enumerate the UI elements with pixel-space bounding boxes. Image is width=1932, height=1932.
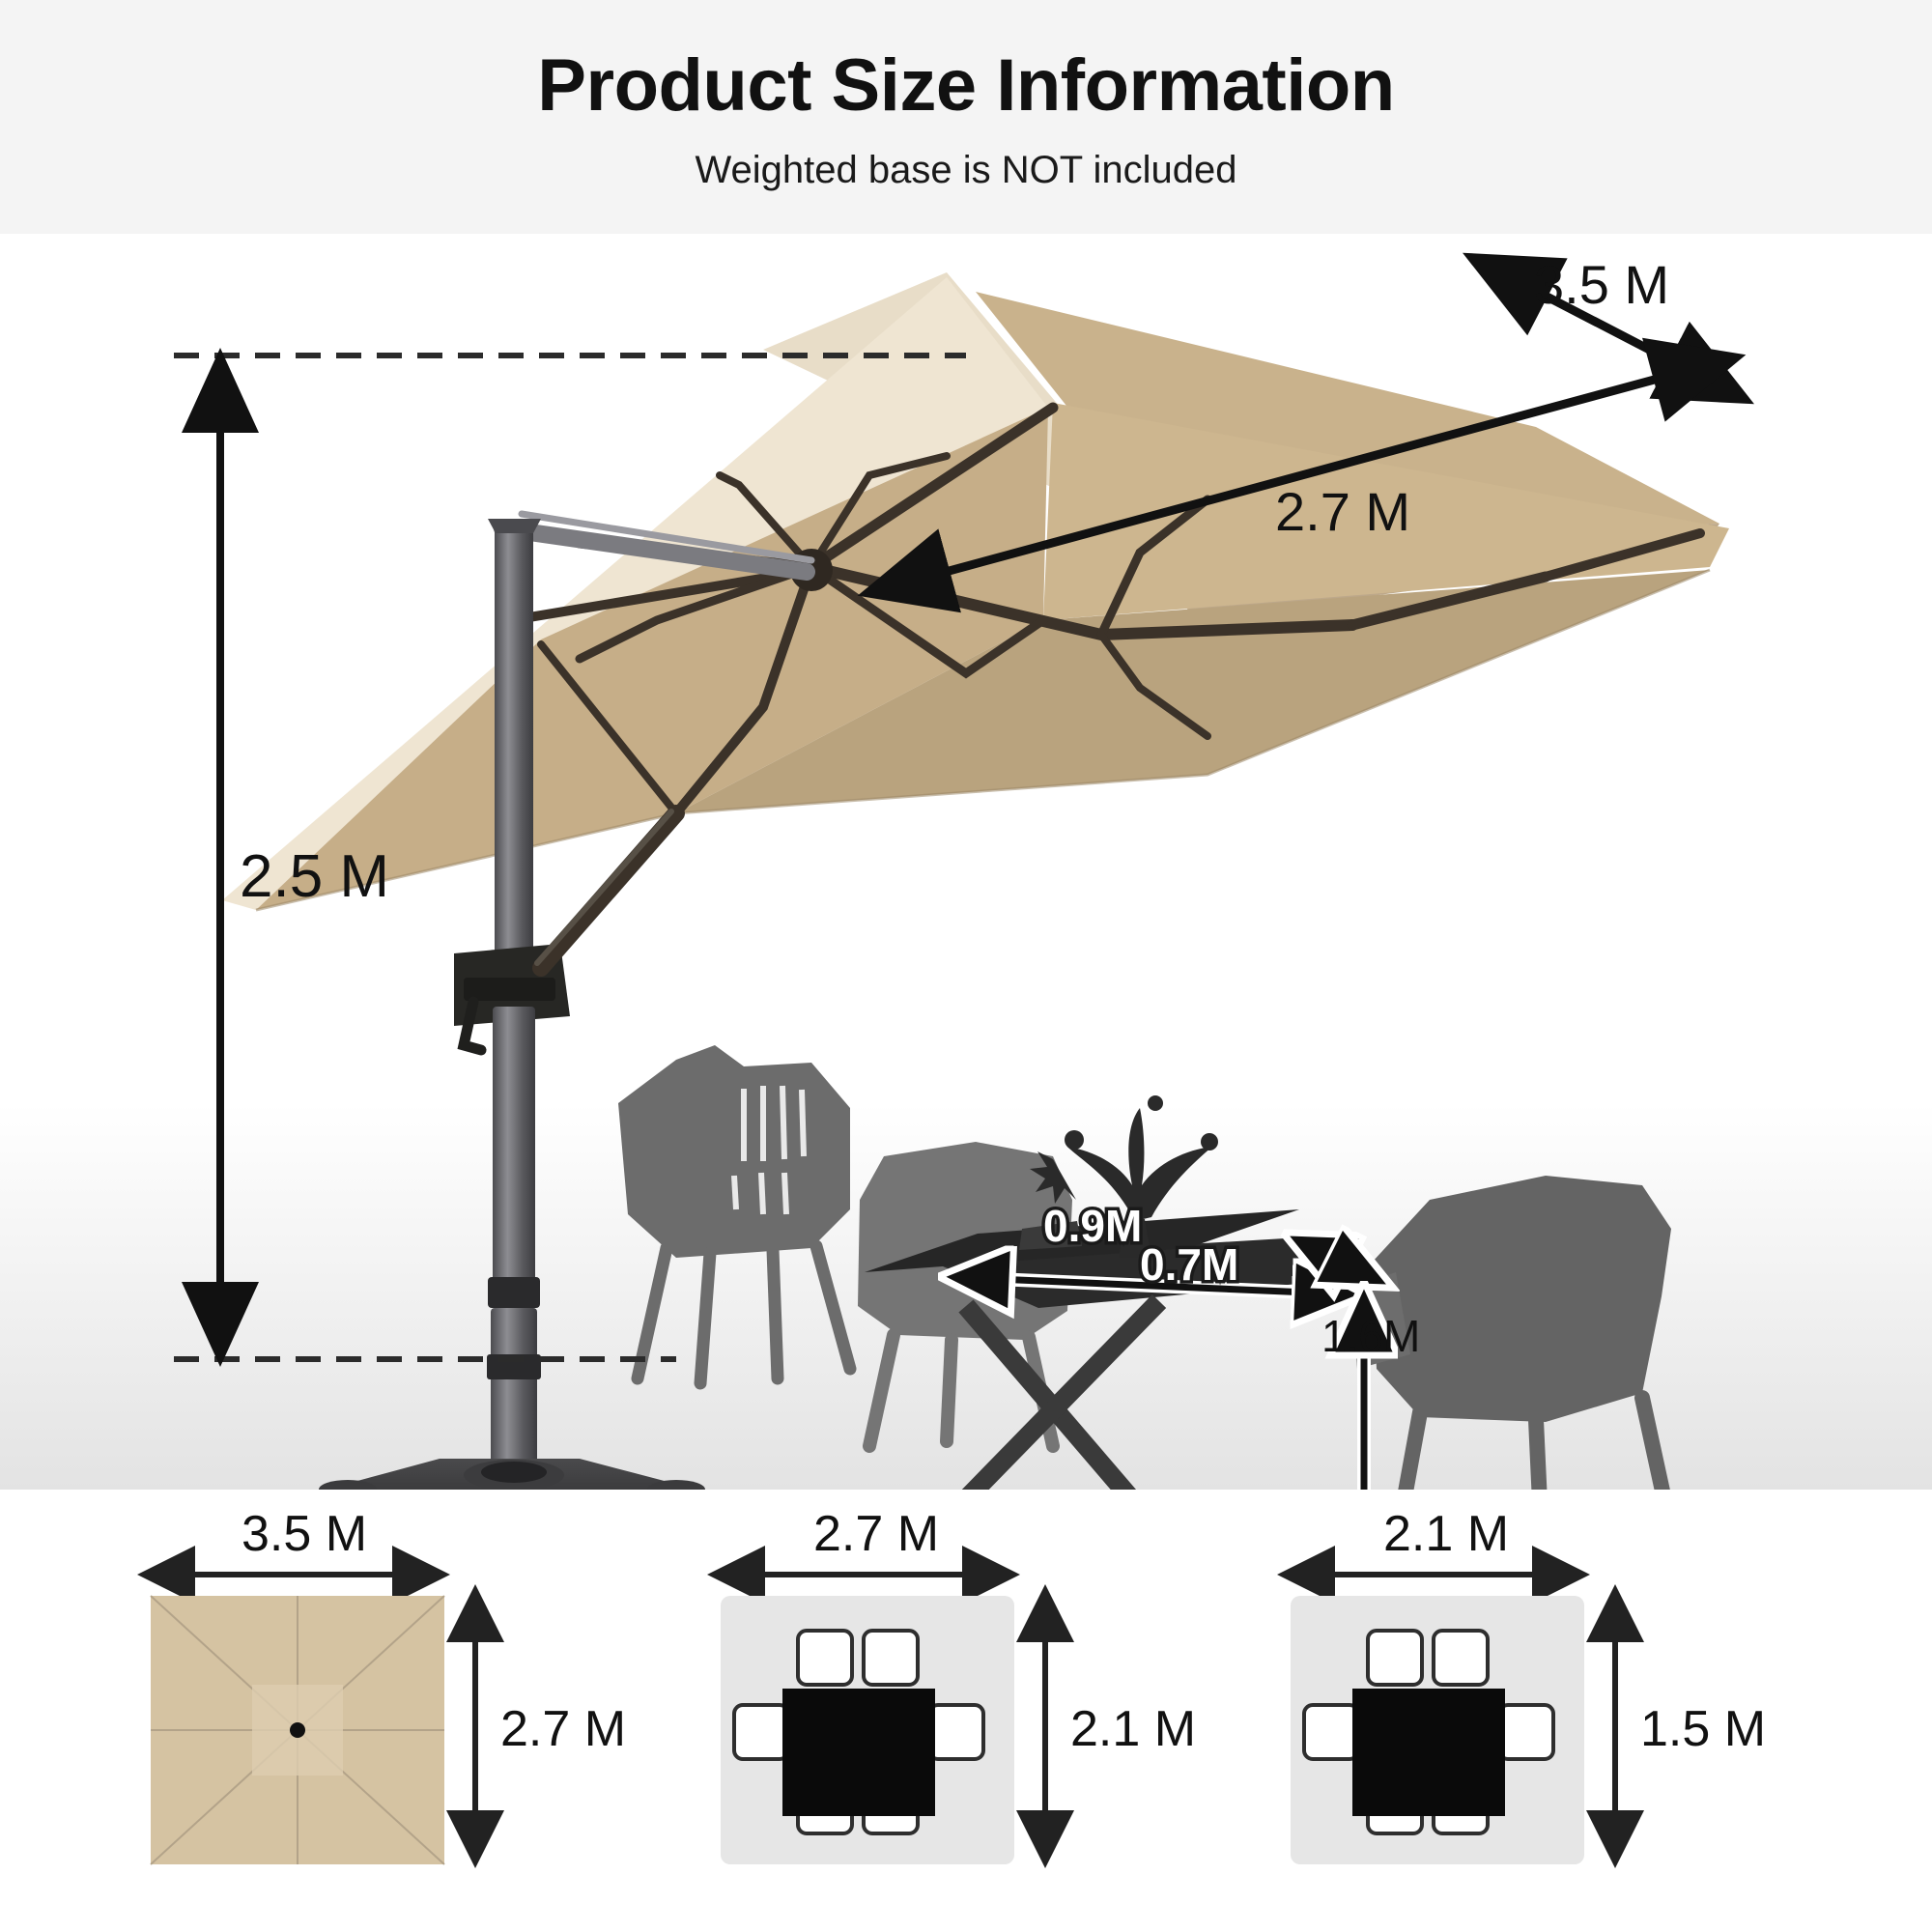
dim-label-canopy-width: 2.7 M xyxy=(1275,480,1410,543)
main-scene: 3.5 M 2.7 M 2.5 M 0.9M 0.9M 1.6M 0.7M 0.… xyxy=(0,234,1932,1490)
diagram-3-top-label: 2.1 M xyxy=(1383,1505,1509,1563)
diagram-1-right-label: 2.7 M xyxy=(500,1700,626,1758)
footprint-diagrams: 3.5 M 2.7 M 2.7 M 2.1 M xyxy=(0,1507,1932,1932)
page-subtitle: Weighted base is NOT included xyxy=(695,149,1236,192)
diagram-1-top-label: 3.5 M xyxy=(241,1505,367,1563)
product-size-infographic: Product Size Information Weighted base i… xyxy=(0,0,1932,1932)
dim-label-table-height: 0.7M 0.7M xyxy=(1140,1238,1238,1291)
dim-label-overall-height: 2.5 M xyxy=(240,842,389,911)
diagram-2-right-label: 2.1 M xyxy=(1070,1700,1196,1758)
table-shape xyxy=(1352,1689,1505,1816)
dim-label-table-width: 0.9M 0.9M xyxy=(1043,1200,1142,1252)
diagram-coverage-large: 2.7 M 2.1 M xyxy=(705,1507,1246,1913)
dim-label-table-depth: 1.6M xyxy=(1321,1310,1420,1362)
header-band: Product Size Information Weighted base i… xyxy=(0,0,1932,234)
page-title: Product Size Information xyxy=(537,47,1394,125)
center-dot xyxy=(290,1722,305,1738)
diagram-3-right-label: 1.5 M xyxy=(1640,1700,1766,1758)
diagram-coverage-small: 2.1 M 1.5 M xyxy=(1275,1507,1816,1913)
diagram-canopy-footprint: 3.5 M 2.7 M xyxy=(135,1507,676,1913)
table-shape xyxy=(782,1689,935,1816)
diagram-2-top-label: 2.7 M xyxy=(813,1505,939,1563)
dim-label-canopy-depth: 3.5 M xyxy=(1534,253,1669,316)
